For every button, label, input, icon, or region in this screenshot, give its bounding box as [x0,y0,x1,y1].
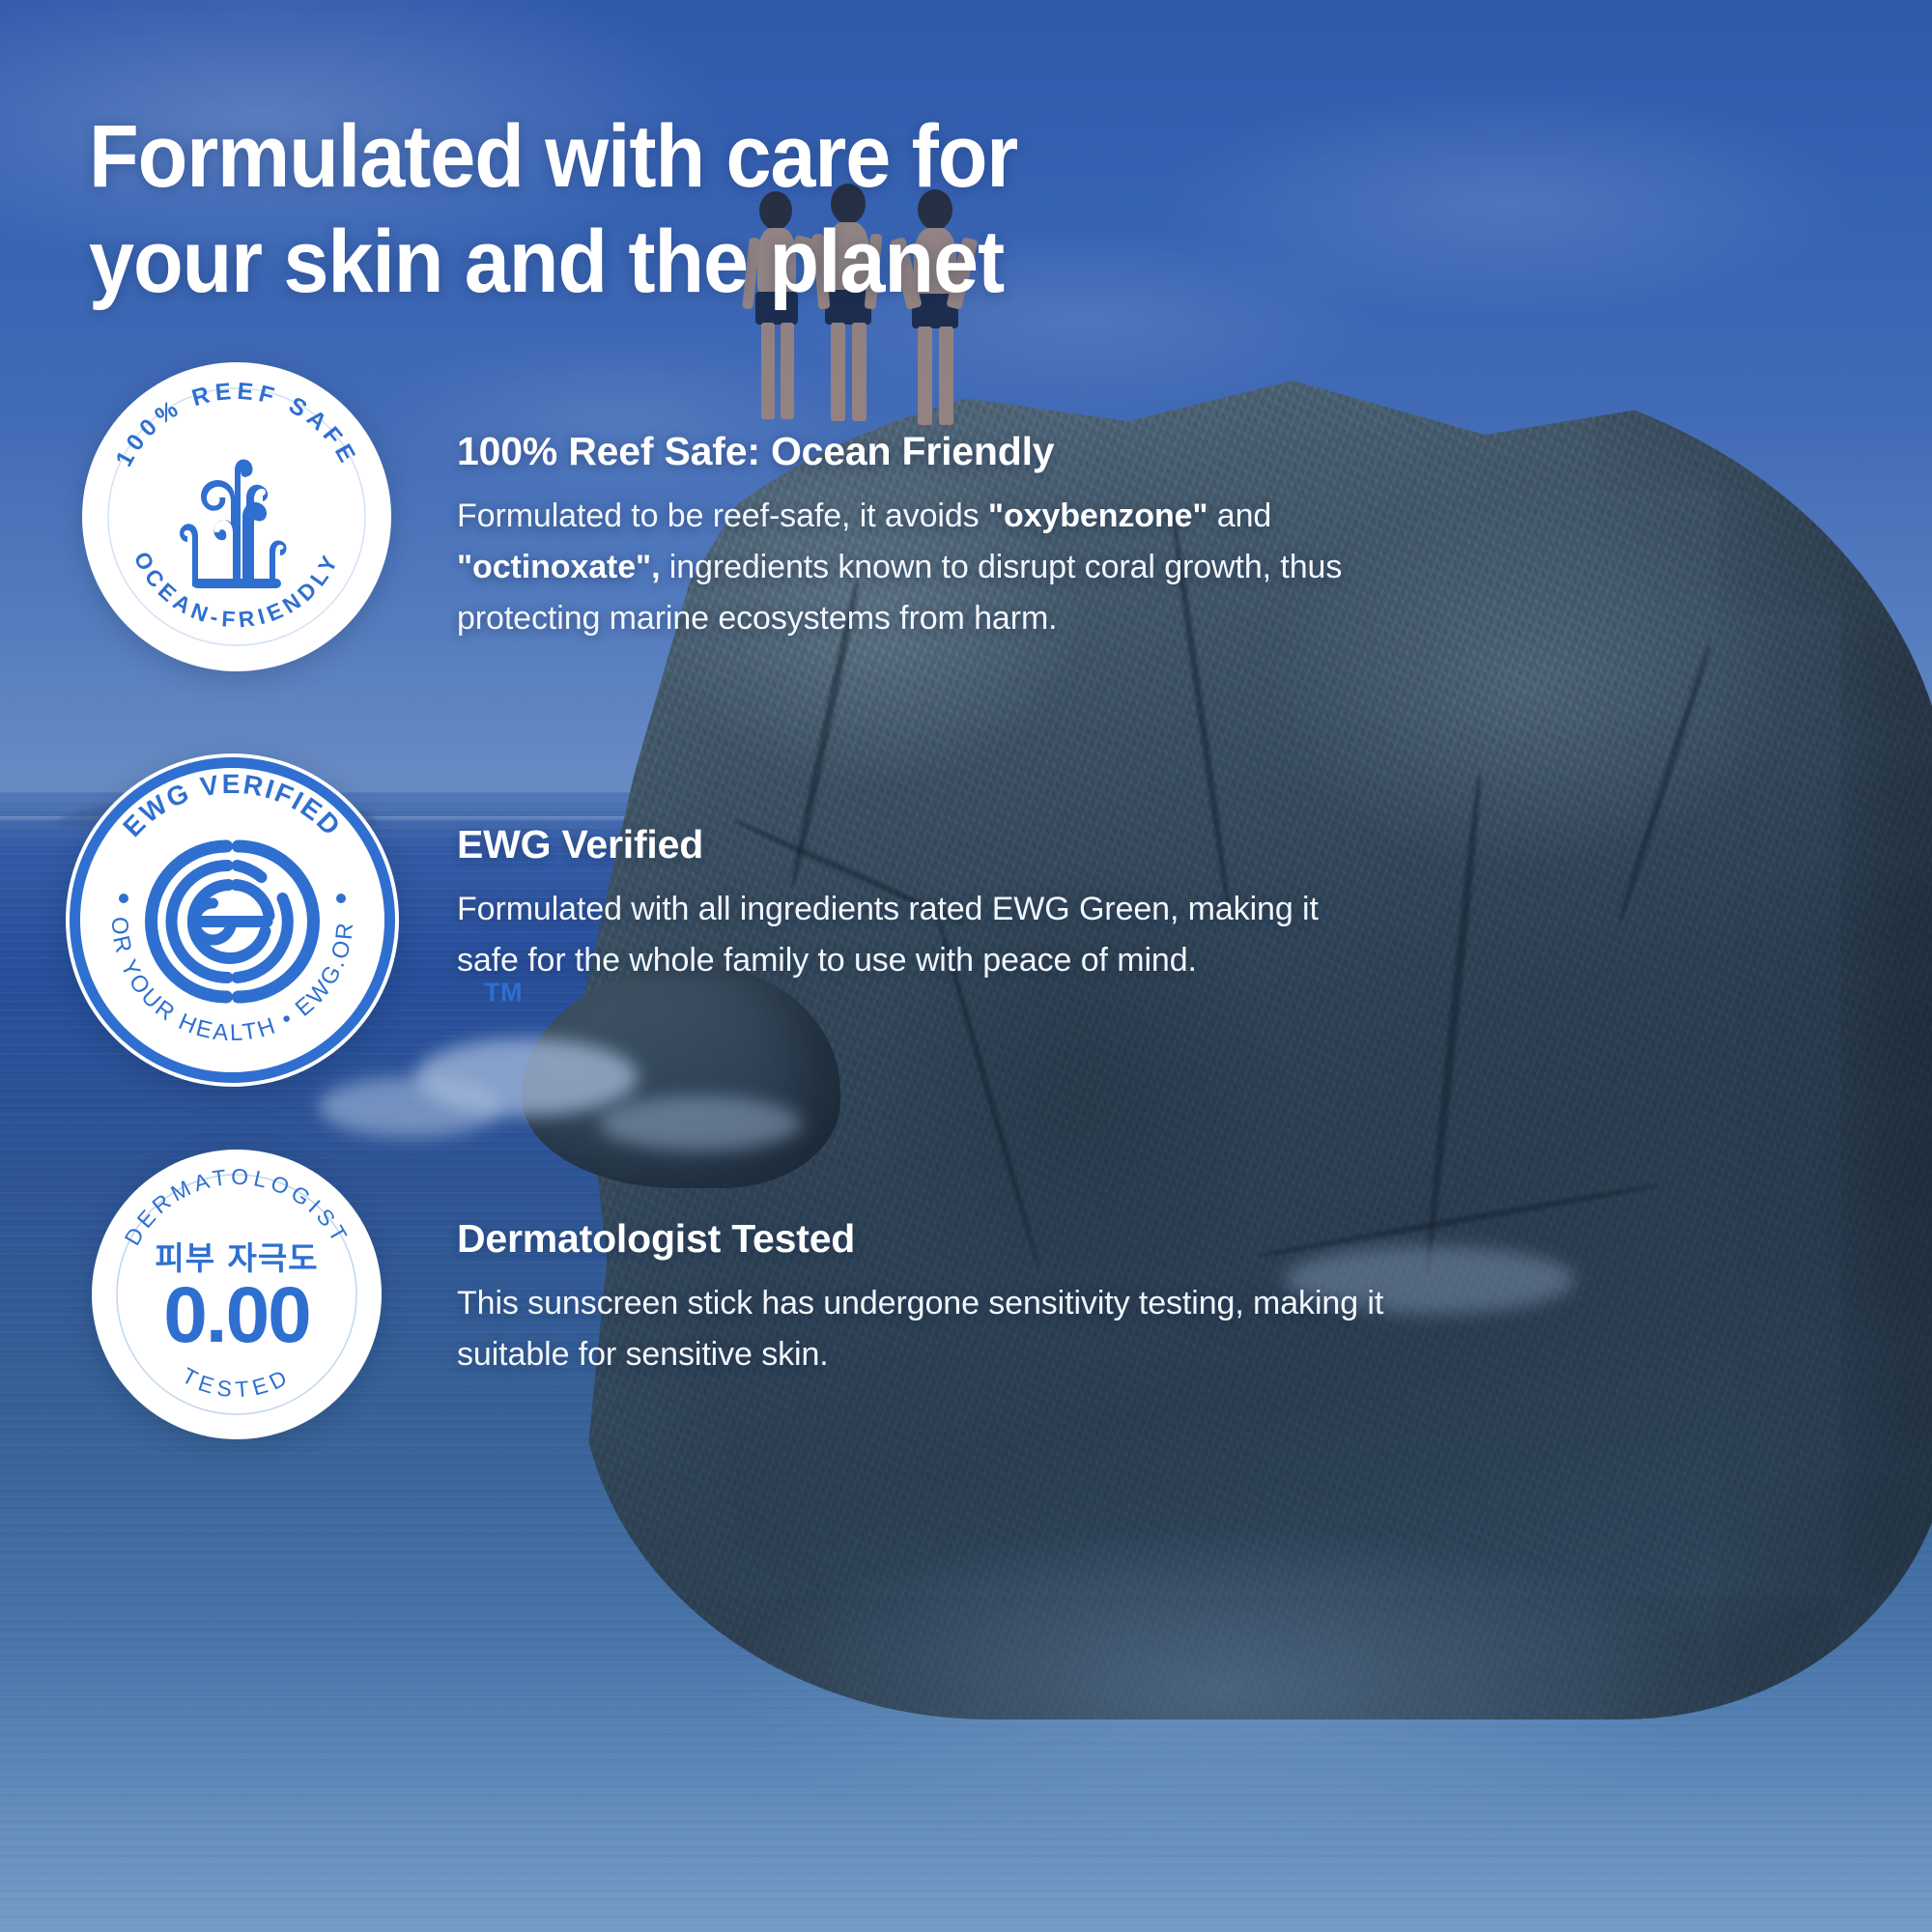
feature-body: Formulated with all ingredients rated EW… [457,884,1384,985]
ewg-verified-badge: EWG VERIFIED FOR YOUR HEALTH • EWG.ORG [66,753,399,1087]
derma-score-value: 0.00 [92,1270,382,1361]
feature-title: Dermatologist Tested [457,1215,1423,1263]
feature-body: Formulated to be reef-safe, it avoids "o… [457,491,1384,643]
svg-text:100% REEF SAFE: 100% REEF SAFE [111,379,362,471]
content-layer: Formulated with care for your skin and t… [0,0,1932,1932]
dermatologist-tested-badge: DERMATOLOGIST TESTED 피부 자극도 0.00 [92,1150,382,1439]
reef-badge-arc-top: 100% REEF SAFE [111,379,362,471]
feature-body: This sunscreen stick has undergone sensi… [457,1278,1384,1379]
infographic-stage: Formulated with care for your skin and t… [0,0,1932,1932]
coral-icon [180,459,286,588]
feature-title: 100% Reef Safe: Ocean Friendly [457,428,1423,475]
derma-badge-arc-bottom: TESTED [178,1362,296,1402]
reef-safe-badge: 100% REEF SAFE OCEAN-FRIENDLY [82,362,391,671]
ewg-e-icon [152,846,314,997]
dermatologist-text-block: Dermatologist Tested This sunscreen stic… [457,1215,1423,1380]
feature-title: EWG Verified [457,821,1423,868]
svg-text:TESTED: TESTED [178,1362,296,1402]
page-headline: Formulated with care for your skin and t… [89,104,1244,314]
reef-safe-text-block: 100% Reef Safe: Ocean Friendly Formulate… [457,428,1423,643]
ewg-text-block: EWG Verified Formulated with all ingredi… [457,821,1423,986]
